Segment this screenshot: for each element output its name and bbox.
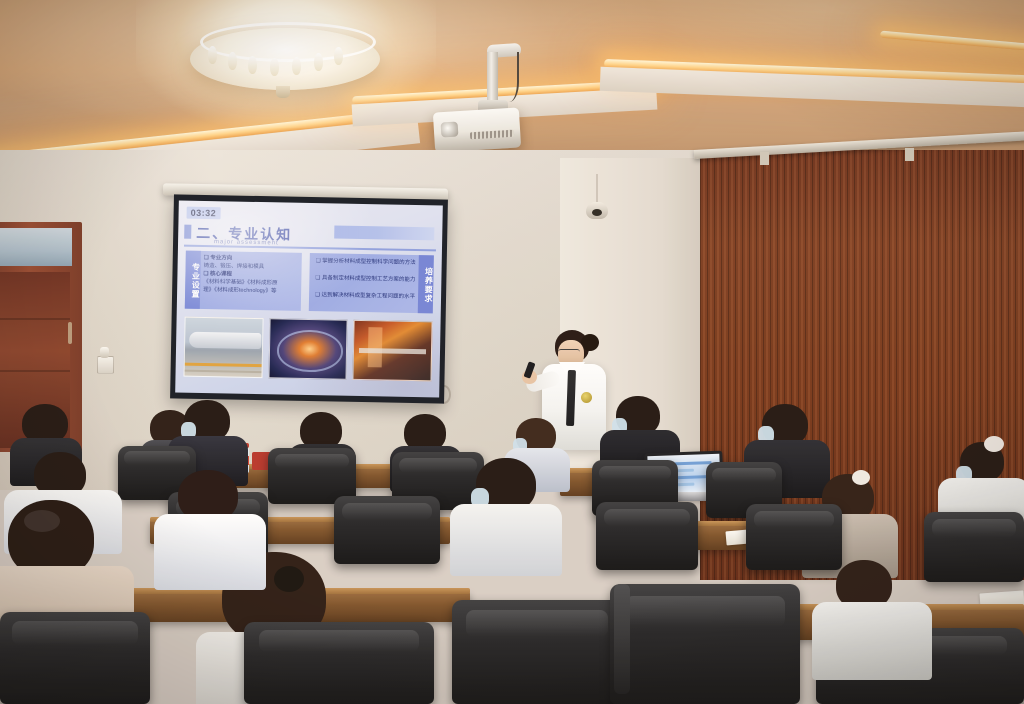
projector-lens (441, 121, 459, 137)
chair[interactable] (0, 612, 150, 704)
screen-glare (175, 200, 443, 397)
projector-cable (495, 52, 519, 102)
glasses-icon (558, 349, 580, 355)
door-handle[interactable] (68, 322, 72, 344)
chair[interactable] (334, 496, 440, 564)
slide-surface: 03:32 二、专业认知 major assessment 专业设置 ❑ 专业方… (175, 200, 443, 397)
wall-switch-knob[interactable] (100, 347, 109, 358)
attendee-body (450, 504, 562, 576)
chandelier-crystal (314, 53, 323, 71)
door-panel-line (0, 370, 70, 372)
hair-highlight (24, 510, 60, 532)
chandelier-crystal (228, 52, 237, 70)
chair[interactable] (452, 600, 622, 704)
rail-bracket (905, 148, 914, 161)
attendee-body (812, 602, 932, 680)
hair-scrunchie (984, 436, 1004, 452)
chandelier-crystal (334, 47, 343, 65)
chair[interactable] (596, 502, 698, 570)
door-transom-glass (0, 228, 72, 266)
chandelier-icon (176, 2, 394, 106)
attendee-body (154, 514, 266, 590)
chair-arm (614, 584, 630, 694)
dome-camera-cord (596, 174, 598, 204)
presenter-badge (581, 392, 592, 403)
chandelier-crystal (248, 56, 257, 74)
projection-screen: 03:32 二、专业认知 major assessment 专业设置 ❑ 专业方… (170, 194, 448, 403)
chair[interactable] (746, 504, 842, 570)
dome-camera-lens (592, 209, 602, 216)
wall-switch[interactable] (97, 356, 114, 374)
chandelier-crystal (208, 46, 217, 64)
chandelier-crystal (292, 57, 301, 75)
hair-scrunchie (852, 470, 870, 485)
chandelier-crystal (270, 58, 279, 76)
chair[interactable] (924, 512, 1024, 582)
rail-bracket (760, 152, 769, 165)
chandelier-stem (276, 86, 290, 98)
chandelier-rim (200, 22, 376, 62)
chair[interactable] (244, 622, 434, 704)
lecture-hall-photo: 03:32 二、专业认知 major assessment 专业设置 ❑ 专业方… (0, 0, 1024, 704)
hair-bun (274, 566, 304, 592)
chair[interactable] (610, 584, 800, 704)
presenter-hair-bun (581, 334, 599, 351)
door-panel-line (0, 318, 70, 320)
